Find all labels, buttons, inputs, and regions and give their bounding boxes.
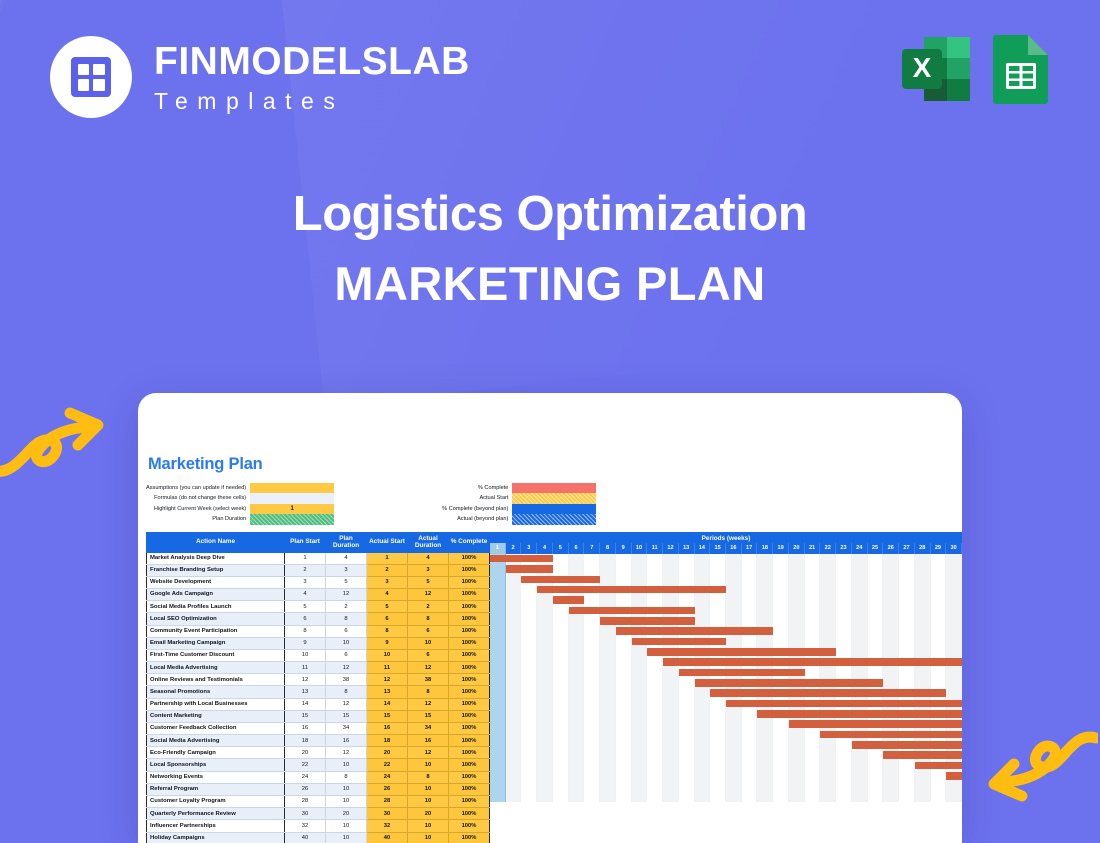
cell-action-name[interactable]: Partnership with Local Businesses — [147, 698, 285, 710]
cell-actual-duration[interactable]: 12 — [408, 589, 449, 601]
cell-actual-duration[interactable]: 5 — [408, 576, 449, 588]
cell-actual-duration[interactable]: 12 — [408, 662, 449, 674]
cell-actual-start[interactable]: 5 — [367, 601, 408, 613]
table-row[interactable]: Holiday Campaigns40104010100% — [147, 832, 490, 843]
gantt-week-16[interactable]: 16 — [726, 543, 742, 554]
gantt-row — [490, 771, 962, 781]
table-row[interactable]: Networking Events248248100% — [147, 771, 490, 783]
cell-action-name[interactable]: Content Marketing — [147, 710, 285, 722]
app-icons: X — [902, 33, 1058, 105]
cell-action-name[interactable]: Referral Program — [147, 783, 285, 795]
table-row[interactable]: Market Analysis Deep Dive1414100% — [147, 552, 490, 564]
table-row[interactable]: Eco-Friendly Campaign20122012100% — [147, 747, 490, 759]
gantt-bar — [632, 638, 726, 646]
table-row[interactable]: Website Development3535100% — [147, 576, 490, 588]
cell-pct-complete[interactable]: 100% — [449, 735, 490, 747]
cell-pct-complete[interactable]: 100% — [449, 747, 490, 759]
cell-actual-start[interactable]: 2 — [367, 564, 408, 576]
gantt-week-13[interactable]: 13 — [679, 543, 695, 554]
cell-plan-duration[interactable]: 8 — [326, 686, 367, 698]
gantt-week-6[interactable]: 6 — [569, 543, 585, 554]
cell-pct-complete[interactable]: 100% — [449, 613, 490, 625]
gantt-bar — [600, 617, 694, 625]
cell-actual-duration[interactable]: 12 — [408, 698, 449, 710]
cell-plan-duration[interactable]: 10 — [326, 759, 367, 771]
table-row[interactable]: Partnership with Local Businesses1412141… — [147, 698, 490, 710]
cell-plan-duration[interactable]: 10 — [326, 783, 367, 795]
gantt-bar — [789, 720, 962, 728]
col-header-actual-duration[interactable]: Actual Duration — [408, 532, 449, 552]
grid-squares-icon — [71, 57, 111, 97]
cell-plan-duration[interactable]: 8 — [326, 613, 367, 625]
table-row[interactable]: Online Reviews and Testimonials123812381… — [147, 674, 490, 686]
cell-actual-start[interactable]: 28 — [367, 796, 408, 808]
cell-action-name[interactable]: Market Analysis Deep Dive — [147, 552, 285, 564]
table-row[interactable]: Content Marketing15151515100% — [147, 710, 490, 722]
gantt-row — [490, 626, 962, 636]
cell-pct-complete[interactable]: 100% — [449, 783, 490, 795]
cell-pct-complete[interactable]: 100% — [449, 698, 490, 710]
cell-pct-complete[interactable]: 100% — [449, 589, 490, 601]
cell-action-name[interactable]: Local SEO Optimization — [147, 613, 285, 625]
gantt-bar — [915, 762, 962, 770]
gantt-bars — [490, 554, 962, 802]
cell-action-name[interactable]: Customer Feedback Collection — [147, 722, 285, 734]
legend-right-swatches — [512, 483, 596, 525]
cell-plan-start[interactable]: 14 — [285, 698, 326, 710]
cell-action-name[interactable]: Networking Events — [147, 771, 285, 783]
gantt-week-9[interactable]: 9 — [616, 543, 632, 554]
cell-plan-duration[interactable]: 5 — [326, 576, 367, 588]
table-row[interactable]: Community Event Participation8686100% — [147, 625, 490, 637]
col-header-actual-start[interactable]: Actual Start — [367, 532, 408, 552]
cell-actual-duration[interactable]: 8 — [408, 686, 449, 698]
action-table: Action Name Plan Start Plan Duration Act… — [146, 532, 490, 843]
gantt-week-14[interactable]: 14 — [695, 543, 711, 554]
gantt-week-20[interactable]: 20 — [789, 543, 805, 554]
cell-pct-complete[interactable]: 100% — [449, 637, 490, 649]
cell-plan-start[interactable]: 6 — [285, 613, 326, 625]
cell-plan-start[interactable]: 26 — [285, 783, 326, 795]
gantt-week-26[interactable]: 26 — [883, 543, 899, 554]
cell-actual-duration[interactable]: 8 — [408, 613, 449, 625]
cell-pct-complete[interactable]: 100% — [449, 674, 490, 686]
cell-plan-start[interactable]: 13 — [285, 686, 326, 698]
cell-pct-complete[interactable]: 100% — [449, 796, 490, 808]
cell-actual-start[interactable]: 24 — [367, 771, 408, 783]
cell-plan-duration[interactable]: 12 — [326, 662, 367, 674]
legend-swatch-pct-complete — [512, 483, 596, 493]
gantt-week-25[interactable]: 25 — [868, 543, 884, 554]
cell-actual-duration[interactable]: 16 — [408, 735, 449, 747]
cell-plan-duration[interactable]: 12 — [326, 698, 367, 710]
cell-plan-duration[interactable]: 8 — [326, 771, 367, 783]
gantt-row — [490, 760, 962, 770]
cell-actual-start[interactable]: 40 — [367, 832, 408, 843]
cell-plan-duration[interactable]: 3 — [326, 564, 367, 576]
gantt-row — [490, 605, 962, 615]
page-title-line1: Logistics Optimization — [0, 186, 1100, 244]
table-body: Market Analysis Deep Dive1414100%Franchi… — [147, 552, 490, 843]
cell-plan-start[interactable]: 16 — [285, 722, 326, 734]
legend-right-labels: % Complete Actual Start % Complete (beyo… — [442, 483, 512, 525]
table-row[interactable]: Local Media Advertising11121112100% — [147, 662, 490, 674]
cell-plan-start[interactable]: 12 — [285, 674, 326, 686]
gantt-week-24[interactable]: 24 — [852, 543, 868, 554]
table-row[interactable]: Franchise Branding Setup2323100% — [147, 564, 490, 576]
legend-label: Formulas (do not change these cells) — [146, 493, 250, 503]
col-header-plan-start[interactable]: Plan Start — [285, 532, 326, 552]
gantt-bar — [757, 710, 962, 718]
cell-plan-duration[interactable]: 10 — [326, 637, 367, 649]
col-header-action-name[interactable]: Action Name — [147, 532, 285, 552]
cell-plan-start[interactable]: 1 — [285, 552, 326, 564]
cell-plan-duration[interactable]: 16 — [326, 735, 367, 747]
cell-actual-start[interactable]: 11 — [367, 662, 408, 674]
cell-actual-start[interactable]: 4 — [367, 589, 408, 601]
brand-subtitle: Templates — [154, 90, 470, 113]
google-sheets-icon — [990, 33, 1058, 105]
gantt-row — [490, 688, 962, 698]
cell-actual-start[interactable]: 8 — [367, 625, 408, 637]
gantt-week-27[interactable]: 27 — [899, 543, 915, 554]
gantt-row — [490, 647, 962, 657]
gantt-bar — [569, 607, 695, 615]
cell-actual-start[interactable]: 16 — [367, 722, 408, 734]
gantt-row — [490, 750, 962, 760]
gantt-week-3[interactable]: 3 — [521, 543, 537, 554]
gantt-row — [490, 698, 962, 708]
cell-plan-start[interactable]: 22 — [285, 759, 326, 771]
gantt-row — [490, 791, 962, 801]
cell-action-name[interactable]: Eco-Friendly Campaign — [147, 747, 285, 759]
table-row[interactable]: Email Marketing Campaign910910100% — [147, 637, 490, 649]
table-row[interactable]: Influencer Partnerships32103210100% — [147, 820, 490, 832]
cell-pct-complete[interactable]: 100% — [449, 771, 490, 783]
gantt-week-5[interactable]: 5 — [553, 543, 569, 554]
cell-pct-complete[interactable]: 100% — [449, 625, 490, 637]
gantt-row — [490, 636, 962, 646]
brand-logo: FINMODELSLAB Templates — [50, 36, 470, 118]
legend: Assumptions (you can update if needed) F… — [146, 483, 962, 525]
logo-badge — [50, 36, 132, 118]
gantt-bar — [946, 772, 962, 780]
table-row[interactable]: Local SEO Optimization6868100% — [147, 613, 490, 625]
microsoft-excel-icon: X — [902, 33, 970, 105]
table-row[interactable]: Quarterly Performance Review30203020100% — [147, 808, 490, 820]
gantt-row — [490, 678, 962, 688]
legend-swatch-actual-beyond — [512, 514, 596, 524]
gantt-bar — [490, 555, 553, 563]
legend-label: % Complete — [442, 483, 512, 493]
squiggly-arrow-up-right-icon — [0, 405, 114, 488]
gantt-row — [490, 616, 962, 626]
table-row[interactable]: Google Ads Campaign412412100% — [147, 589, 490, 601]
table-row[interactable]: Seasonal Promotions138138100% — [147, 686, 490, 698]
cell-actual-duration[interactable]: 2 — [408, 601, 449, 613]
legend-left-labels: Assumptions (you can update if needed) F… — [146, 483, 250, 525]
cell-action-name[interactable]: Email Marketing Campaign — [147, 637, 285, 649]
gantt-bar — [553, 596, 584, 604]
cell-actual-start[interactable]: 26 — [367, 783, 408, 795]
cell-plan-start[interactable]: 11 — [285, 662, 326, 674]
col-header-plan-duration[interactable]: Plan Duration — [326, 532, 367, 552]
cell-action-name[interactable]: Website Development — [147, 576, 285, 588]
cell-plan-start[interactable]: 40 — [285, 832, 326, 843]
cell-pct-complete[interactable]: 100% — [449, 832, 490, 843]
cell-action-name[interactable]: Social Media Profiles Launch — [147, 601, 285, 613]
table-row[interactable]: Social Media Advertising18161816100% — [147, 735, 490, 747]
spreadsheet: Marketing Plan Assumptions (you can upda… — [146, 455, 962, 825]
gantt-bar — [616, 627, 773, 635]
cell-plan-duration[interactable]: 2 — [326, 601, 367, 613]
gantt-week-28[interactable]: 28 — [915, 543, 931, 554]
cell-action-name[interactable]: Community Event Participation — [147, 625, 285, 637]
cell-actual-duration[interactable]: 34 — [408, 722, 449, 734]
cell-plan-start[interactable]: 8 — [285, 625, 326, 637]
gantt-bar — [710, 689, 946, 697]
cell-plan-start[interactable]: 24 — [285, 771, 326, 783]
gantt-body — [490, 554, 962, 802]
table-row[interactable]: Social Media Profiles Launch5252100% — [147, 601, 490, 613]
cell-action-name[interactable]: Seasonal Promotions — [147, 686, 285, 698]
cell-action-name[interactable]: Google Ads Campaign — [147, 589, 285, 601]
cell-action-name[interactable]: Quarterly Performance Review — [147, 808, 285, 820]
gantt-bar — [883, 751, 962, 759]
gantt-bar — [679, 669, 805, 677]
cell-action-name[interactable]: Holiday Campaigns — [147, 832, 285, 843]
legend-right: % Complete Actual Start % Complete (beyo… — [442, 483, 596, 525]
cell-plan-duration[interactable]: 10 — [326, 796, 367, 808]
cell-plan-duration[interactable]: 10 — [326, 832, 367, 843]
cell-plan-start[interactable]: 30 — [285, 808, 326, 820]
cell-pct-complete[interactable]: 100% — [449, 820, 490, 832]
cell-actual-start[interactable]: 22 — [367, 759, 408, 771]
cell-plan-duration[interactable]: 15 — [326, 710, 367, 722]
cell-pct-complete[interactable]: 100% — [449, 759, 490, 771]
legend-label: Highlight Current Week (select week) — [146, 504, 250, 514]
cell-actual-start[interactable]: 13 — [367, 686, 408, 698]
cell-action-name[interactable]: First-Time Customer Discount — [147, 649, 285, 661]
table-row[interactable]: First-Time Customer Discount106106100% — [147, 649, 490, 661]
cell-pct-complete[interactable]: 100% — [449, 649, 490, 661]
cell-pct-complete[interactable]: 100% — [449, 564, 490, 576]
cell-action-name[interactable]: Franchise Branding Setup — [147, 564, 285, 576]
gantt-week-2[interactable]: 2 — [506, 543, 522, 554]
gantt-week-8[interactable]: 8 — [600, 543, 616, 554]
cell-action-name[interactable]: Online Reviews and Testimonials — [147, 674, 285, 686]
cell-pct-complete[interactable]: 100% — [449, 552, 490, 564]
gantt-table: Action Name Plan Start Plan Duration Act… — [146, 532, 962, 825]
hero-titles: Logistics Optimization MARKETING PLAN — [0, 186, 1100, 311]
gantt-row — [490, 729, 962, 739]
gantt-bar — [726, 700, 962, 708]
legend-label: Actual (beyond plan) — [442, 514, 512, 524]
gantt-week-7[interactable]: 7 — [584, 543, 600, 554]
cell-plan-duration[interactable]: 20 — [326, 808, 367, 820]
cell-actual-duration[interactable]: 10 — [408, 820, 449, 832]
cell-actual-duration[interactable]: 6 — [408, 649, 449, 661]
legend-swatch-pct-beyond — [512, 504, 596, 514]
gantt-week-12[interactable]: 12 — [663, 543, 679, 554]
cell-plan-duration[interactable]: 10 — [326, 820, 367, 832]
gantt-week-21[interactable]: 21 — [805, 543, 821, 554]
page-title-line2: MARKETING PLAN — [0, 256, 1100, 311]
cell-plan-duration[interactable]: 34 — [326, 722, 367, 734]
legend-swatch-plan-duration — [250, 514, 334, 524]
gantt-bar — [852, 741, 962, 749]
table-row[interactable]: Referral Program26102610100% — [147, 783, 490, 795]
gantt-week-10[interactable]: 10 — [632, 543, 648, 554]
gantt-row — [490, 657, 962, 667]
cell-actual-start[interactable]: 3 — [367, 576, 408, 588]
gantt-week-4[interactable]: 4 — [537, 543, 553, 554]
cell-pct-complete[interactable]: 100% — [449, 722, 490, 734]
cell-actual-duration[interactable]: 10 — [408, 796, 449, 808]
cell-pct-complete[interactable]: 100% — [449, 576, 490, 588]
cell-action-name[interactable]: Social Media Advertising — [147, 735, 285, 747]
cell-pct-complete[interactable]: 100% — [449, 710, 490, 722]
spreadsheet-card: Marketing Plan Assumptions (you can upda… — [138, 393, 962, 843]
gantt-row — [490, 781, 962, 791]
cell-plan-start[interactable]: 4 — [285, 589, 326, 601]
cell-plan-start[interactable]: 2 — [285, 564, 326, 576]
gantt-week-numbers: 1234567891011121314151617181920212223242… — [490, 543, 962, 554]
cell-pct-complete[interactable]: 100% — [449, 808, 490, 820]
cell-actual-duration[interactable]: 10 — [408, 783, 449, 795]
cell-action-name[interactable]: Customer Loyalty Program — [147, 796, 285, 808]
legend-label: % Complete (beyond plan) — [442, 504, 512, 514]
cell-plan-start[interactable]: 3 — [285, 576, 326, 588]
cell-plan-start[interactable]: 9 — [285, 637, 326, 649]
gantt-bar — [521, 576, 600, 584]
current-week-input[interactable]: 1 — [250, 504, 334, 514]
gantt-week-1[interactable]: 1 — [490, 543, 506, 554]
cell-plan-start[interactable]: 28 — [285, 796, 326, 808]
cell-actual-start[interactable]: 14 — [367, 698, 408, 710]
gantt-row — [490, 709, 962, 719]
cell-plan-duration[interactable]: 12 — [326, 747, 367, 759]
gantt-row — [490, 585, 962, 595]
gantt-row — [490, 719, 962, 729]
legend-left: Assumptions (you can update if needed) F… — [146, 483, 334, 525]
cell-action-name[interactable]: Local Media Advertising — [147, 662, 285, 674]
cell-pct-complete[interactable]: 100% — [449, 662, 490, 674]
cell-actual-duration[interactable]: 10 — [408, 637, 449, 649]
gantt-week-30[interactable]: 30 — [946, 543, 962, 554]
gantt-bar — [663, 658, 962, 666]
cell-actual-duration[interactable]: 20 — [408, 808, 449, 820]
gantt-row — [490, 564, 962, 574]
gantt-week-17[interactable]: 17 — [742, 543, 758, 554]
gantt-week-29[interactable]: 29 — [931, 543, 947, 554]
cell-plan-duration[interactable]: 4 — [326, 552, 367, 564]
legend-swatch-formulas — [250, 493, 334, 503]
cell-actual-duration[interactable]: 38 — [408, 674, 449, 686]
cell-plan-duration[interactable]: 12 — [326, 589, 367, 601]
legend-label: Actual Start — [442, 493, 512, 503]
brand-title: FINMODELSLAB — [154, 42, 470, 81]
gantt-row — [490, 740, 962, 750]
gantt-week-23[interactable]: 23 — [836, 543, 852, 554]
svg-text:X: X — [913, 52, 932, 83]
cell-actual-start[interactable]: 15 — [367, 710, 408, 722]
cell-plan-start[interactable]: 10 — [285, 649, 326, 661]
legend-label: Assumptions (you can update if needed) — [146, 483, 250, 493]
gantt-bar — [537, 586, 726, 594]
cell-plan-duration[interactable]: 38 — [326, 674, 367, 686]
squiggly-arrow-down-left-icon — [972, 730, 1098, 815]
legend-label: Plan Duration — [146, 514, 250, 524]
table-row[interactable]: Customer Loyalty Program28102810100% — [147, 796, 490, 808]
cell-actual-start[interactable]: 18 — [367, 735, 408, 747]
cell-actual-start[interactable]: 20 — [367, 747, 408, 759]
cell-actual-start[interactable]: 30 — [367, 808, 408, 820]
legend-swatch-assumptions — [250, 483, 334, 493]
gantt-bar — [647, 648, 836, 656]
cell-plan-start[interactable]: 32 — [285, 820, 326, 832]
gantt-week-22[interactable]: 22 — [820, 543, 836, 554]
cell-actual-duration[interactable]: 3 — [408, 564, 449, 576]
cell-plan-start[interactable]: 18 — [285, 735, 326, 747]
cell-plan-duration[interactable]: 6 — [326, 649, 367, 661]
gantt-bar — [506, 565, 553, 573]
gantt-chart: Periods (weeks) 123456789101112131415161… — [490, 532, 962, 825]
cell-actual-duration[interactable]: 4 — [408, 552, 449, 564]
cell-actual-start[interactable]: 6 — [367, 613, 408, 625]
gantt-week-18[interactable]: 18 — [757, 543, 773, 554]
cell-action-name[interactable]: Influencer Partnerships — [147, 820, 285, 832]
gantt-week-15[interactable]: 15 — [710, 543, 726, 554]
cell-actual-duration[interactable]: 8 — [408, 771, 449, 783]
cell-action-name[interactable]: Local Sponsorships — [147, 759, 285, 771]
cell-actual-duration[interactable]: 10 — [408, 759, 449, 771]
table-row[interactable]: Customer Feedback Collection16341634100% — [147, 722, 490, 734]
cell-actual-duration[interactable]: 12 — [408, 747, 449, 759]
cell-actual-start[interactable]: 32 — [367, 820, 408, 832]
cell-plan-duration[interactable]: 6 — [326, 625, 367, 637]
sheet-title: Marketing Plan — [148, 455, 962, 474]
legend-swatch-actual-start — [512, 493, 596, 503]
gantt-week-19[interactable]: 19 — [773, 543, 789, 554]
gantt-row — [490, 667, 962, 677]
cell-actual-start[interactable]: 1 — [367, 552, 408, 564]
cell-actual-start[interactable]: 9 — [367, 637, 408, 649]
gantt-row — [490, 574, 962, 584]
cell-actual-duration[interactable]: 10 — [408, 832, 449, 843]
cell-actual-start[interactable]: 10 — [367, 649, 408, 661]
gantt-bar — [695, 679, 884, 687]
gantt-week-11[interactable]: 11 — [647, 543, 663, 554]
gantt-periods-header: Periods (weeks) — [490, 532, 962, 543]
col-header-pct-complete[interactable]: % Complete — [449, 532, 490, 552]
gantt-bar — [820, 731, 962, 739]
gantt-row — [490, 595, 962, 605]
cell-actual-duration[interactable]: 6 — [408, 625, 449, 637]
gantt-row — [490, 554, 962, 564]
cell-plan-start[interactable]: 5 — [285, 601, 326, 613]
cell-pct-complete[interactable]: 100% — [449, 601, 490, 613]
table-row[interactable]: Local Sponsorships22102210100% — [147, 759, 490, 771]
cell-plan-start[interactable]: 20 — [285, 747, 326, 759]
cell-actual-duration[interactable]: 15 — [408, 710, 449, 722]
cell-pct-complete[interactable]: 100% — [449, 686, 490, 698]
cell-plan-start[interactable]: 15 — [285, 710, 326, 722]
cell-actual-start[interactable]: 12 — [367, 674, 408, 686]
legend-left-swatches: 1 — [250, 483, 334, 525]
